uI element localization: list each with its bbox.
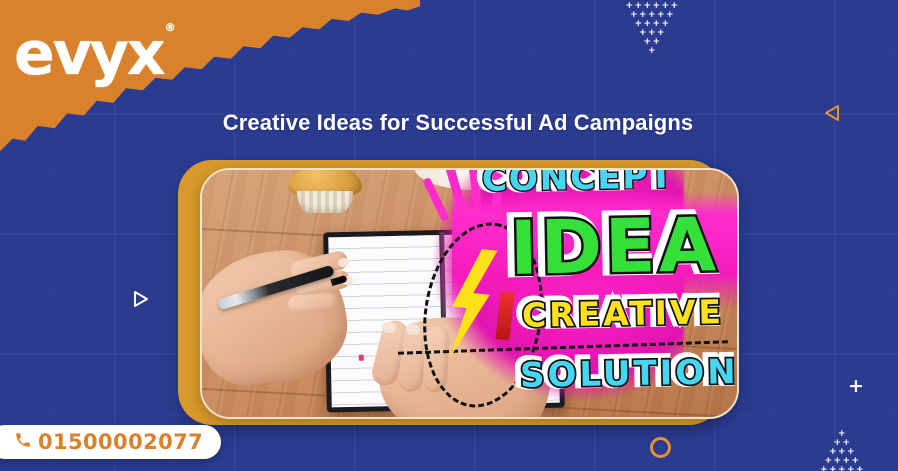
word-idea: IDEA: [509, 202, 719, 292]
page-mark: [359, 355, 364, 361]
play-triangle-icon-orange: [824, 104, 840, 122]
brand-logo-text: evyx: [14, 19, 164, 89]
image-card-photo[interactable]: CONCEPT CONCEPT IDEA IDEA CREATIVE CREAT…: [200, 168, 739, 419]
plus-icon: +: [829, 466, 837, 471]
finger: [287, 292, 338, 313]
phone-number: 01500002077: [38, 430, 203, 454]
brand-logo: evyx®: [14, 24, 175, 84]
plus-icon: +: [856, 466, 864, 471]
play-triangle-icon-white: [133, 290, 149, 308]
muffin-cup: [297, 191, 353, 213]
phone-icon: [14, 431, 32, 453]
plus-icon: +: [820, 466, 828, 471]
plus-icon: +: [847, 466, 855, 471]
word-concept: CONCEPT: [482, 168, 675, 200]
plus-icon: +: [848, 377, 864, 396]
plus-icon: +: [648, 47, 656, 56]
banner-canvas: evyx® Creative Ideas for Successful Ad C…: [0, 0, 898, 471]
fingernail: [406, 324, 420, 335]
word-creative: CREATIVE: [522, 292, 725, 335]
circle-outline-icon: [650, 437, 671, 458]
phone-badge[interactable]: 01500002077: [0, 425, 221, 459]
registered-mark: ®: [165, 21, 176, 34]
fingernail: [382, 322, 396, 333]
word-solution: SOLUTION: [520, 352, 739, 396]
page-title: Creative Ideas for Successful Ad Campaig…: [178, 110, 738, 136]
muffin: [288, 168, 362, 216]
plus-icon: +: [838, 466, 846, 471]
